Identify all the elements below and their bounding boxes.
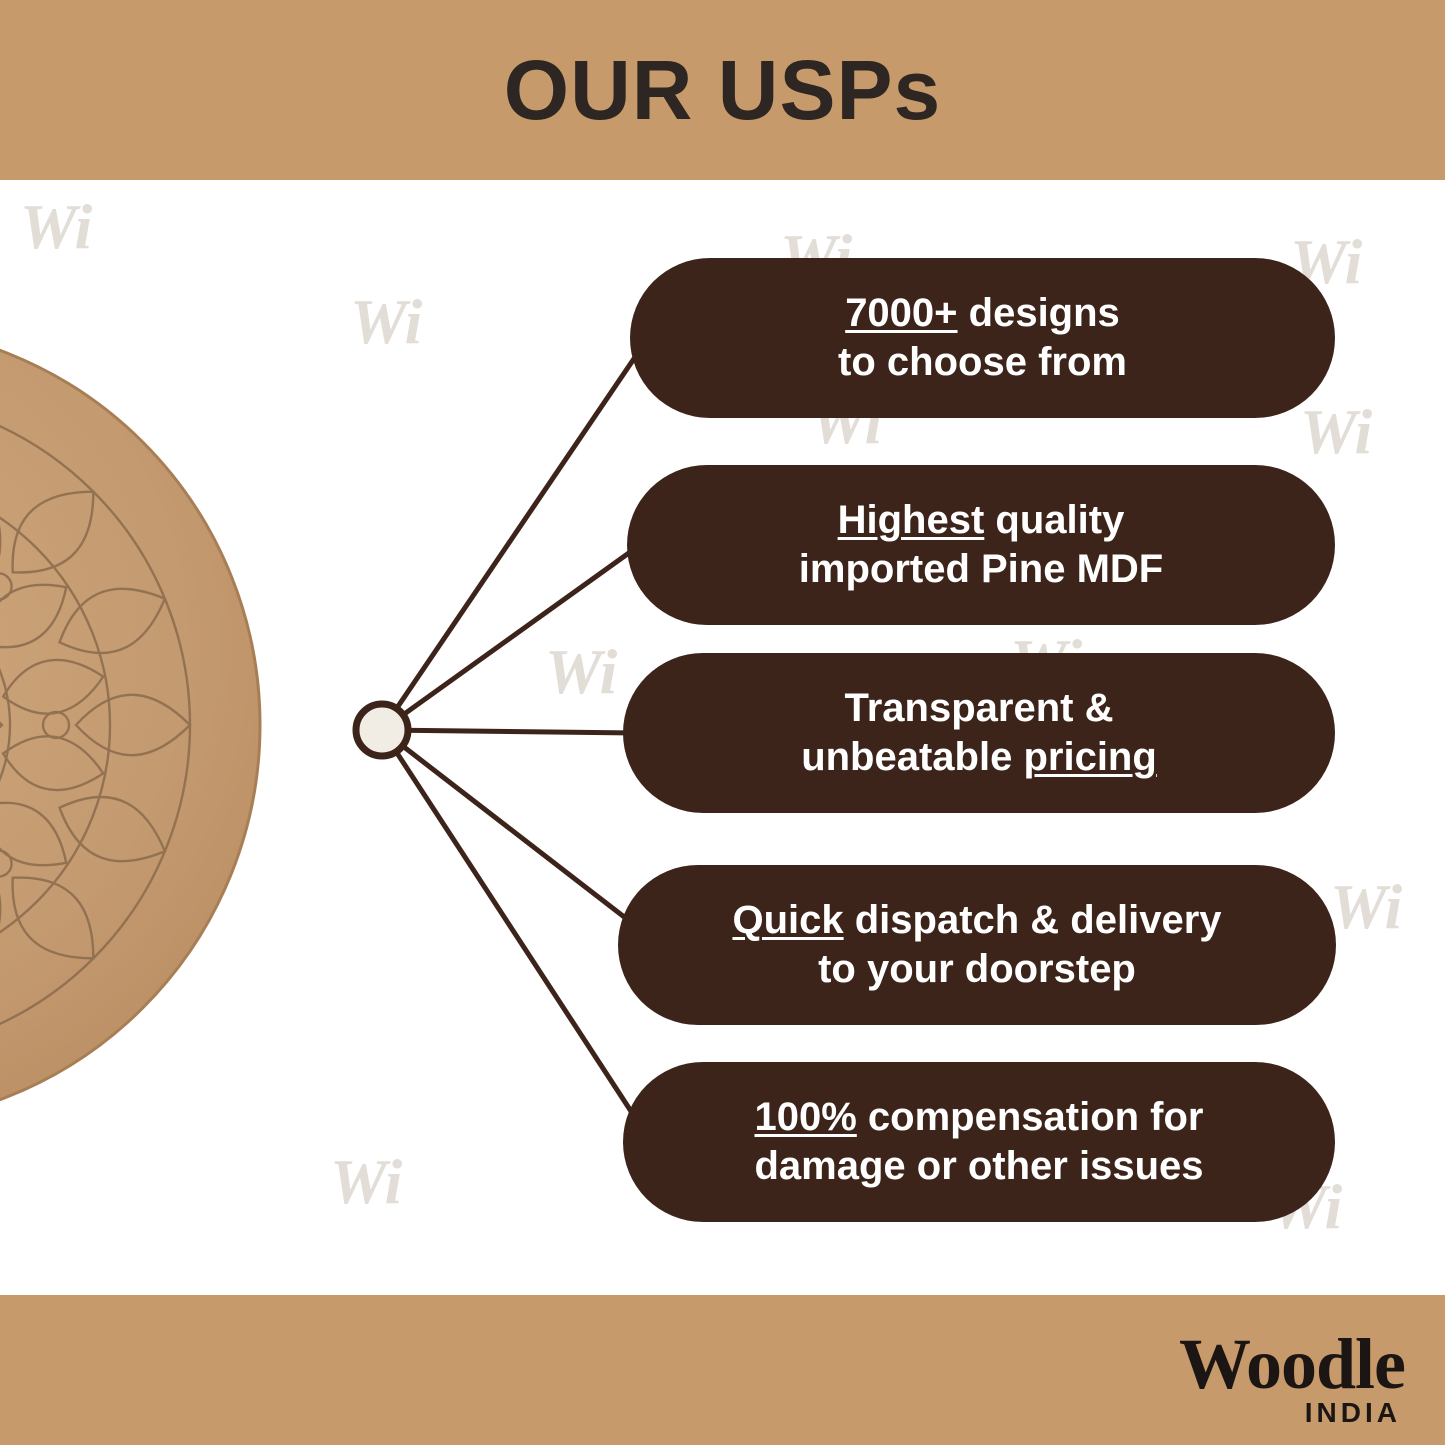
usp-compensation-line2: damage or other issues (754, 1144, 1203, 1188)
hub-node (356, 704, 408, 756)
usp-compensation-line1-post: compensation for (857, 1095, 1204, 1139)
connector-line-1 (382, 338, 648, 730)
usp-dispatch-line2: to your doorstep (818, 947, 1136, 991)
poster-canvas: OUR USPs Wi Wi Wi Wi Wi Wi Wi Wi Wi Wi W… (0, 0, 1445, 1445)
usp-designs-line2: to choose from (838, 340, 1127, 384)
usp-quality-highlight: Highest (838, 498, 985, 542)
footer-band: Woodle INDIA (0, 1295, 1445, 1445)
connector-line-2 (382, 545, 640, 730)
usp-quality-line2: imported Pine MDF (799, 547, 1163, 591)
usp-card-quality[interactable]: Highest quality imported Pine MDF (627, 465, 1335, 625)
brand-logo: Woodle INDIA (1179, 1330, 1405, 1427)
connector-line-5 (382, 730, 640, 1125)
brand-subtitle: INDIA (1179, 1400, 1401, 1427)
brand-name: Woodle (1179, 1330, 1405, 1398)
usp-pricing-line2-pre: unbeatable (801, 735, 1023, 779)
usp-card-designs[interactable]: 7000+ designs to choose from (630, 258, 1335, 418)
usp-quality-line1-post: quality (984, 498, 1124, 542)
usp-designs-highlight: 7000+ (845, 291, 957, 335)
usp-dispatch-highlight: Quick (732, 898, 843, 942)
usp-card-quality-text: Highest quality imported Pine MDF (799, 496, 1163, 594)
usp-compensation-highlight: 100% (754, 1095, 856, 1139)
usp-pricing-highlight: pricing (1023, 735, 1156, 779)
usp-pricing-line1: Transparent & (845, 686, 1114, 730)
connector-line-3 (382, 730, 640, 733)
usp-card-compensation-text: 100% compensation for damage or other is… (754, 1093, 1203, 1191)
usp-card-dispatch-text: Quick dispatch & delivery to your doorst… (732, 896, 1221, 994)
usp-designs-line1-post: designs (958, 291, 1120, 335)
usp-dispatch-line1-post: dispatch & delivery (844, 898, 1222, 942)
usp-card-pricing[interactable]: Transparent & unbeatable pricing (623, 653, 1335, 813)
usp-card-compensation[interactable]: 100% compensation for damage or other is… (623, 1062, 1335, 1222)
usp-card-dispatch[interactable]: Quick dispatch & delivery to your doorst… (618, 865, 1336, 1025)
usp-card-pricing-text: Transparent & unbeatable pricing (801, 684, 1157, 782)
usp-card-designs-text: 7000+ designs to choose from (838, 289, 1127, 387)
connector-line-4 (382, 730, 632, 923)
